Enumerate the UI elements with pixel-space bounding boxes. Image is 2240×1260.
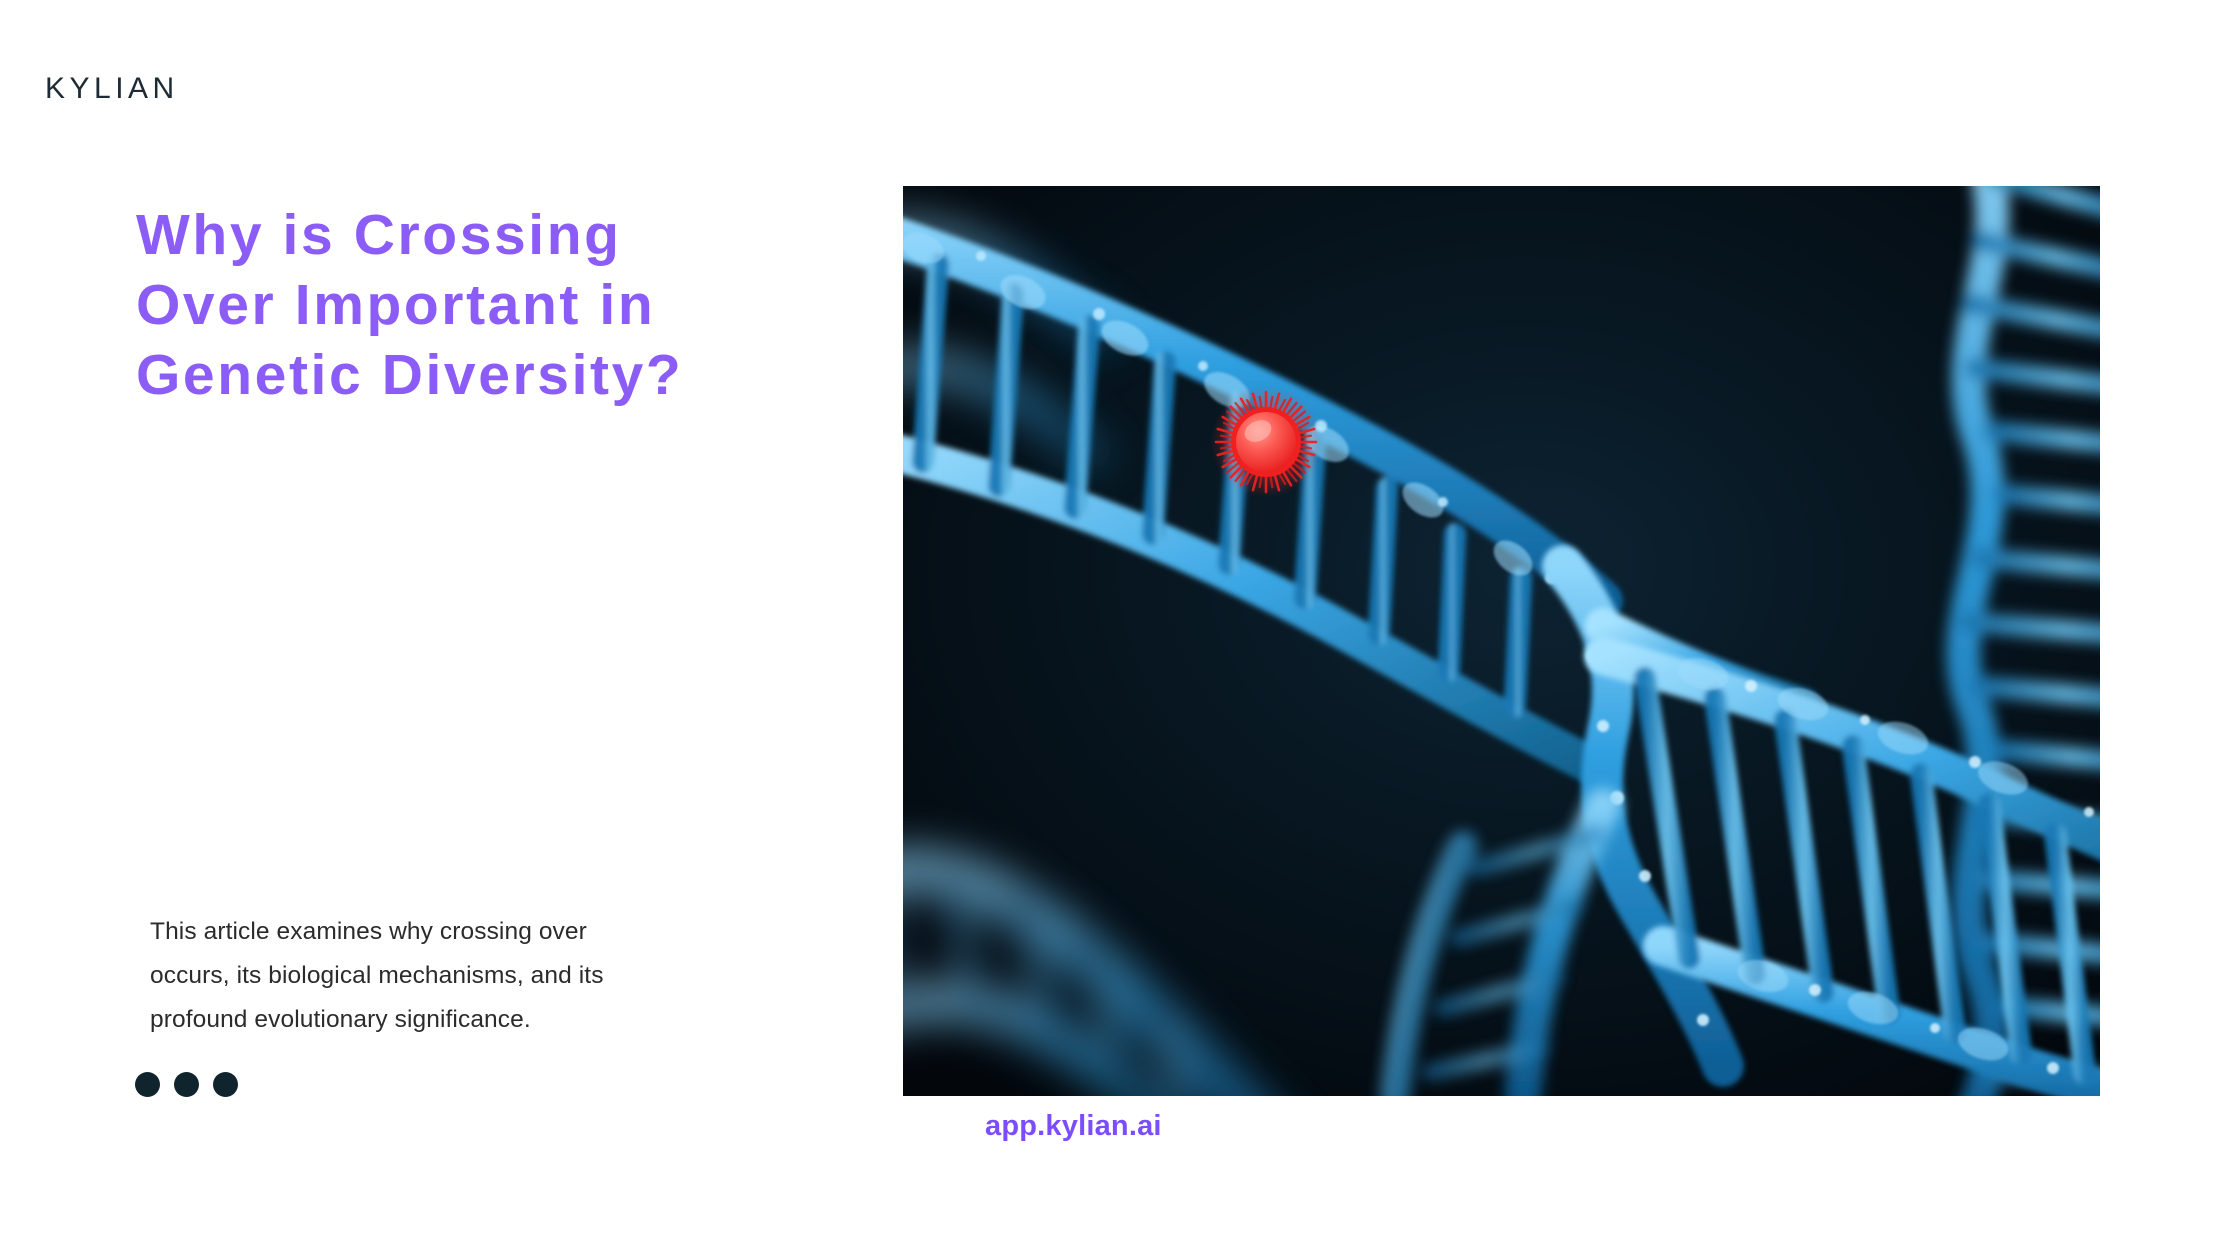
- left-content-column: Why is Crossing Over Important in Geneti…: [0, 0, 900, 1260]
- pagination-dots[interactable]: [135, 1072, 238, 1097]
- lead-line-1: This article examines why crossing over: [150, 910, 770, 954]
- hero-image-dna-helix: [903, 186, 2100, 1096]
- headline-line-3: Genetic Diversity?: [136, 340, 876, 410]
- crossing-over-marker-icon: [1210, 386, 1322, 498]
- dna-illustration: [903, 186, 2100, 1096]
- lead-line-2: occurs, its biological mechanisms, and i…: [150, 954, 770, 998]
- lead-line-3: profound evolutionary significance.: [150, 998, 770, 1042]
- headline-line-1: Why is Crossing: [136, 200, 876, 270]
- page-title: Why is Crossing Over Important in Geneti…: [136, 200, 876, 410]
- pagination-dot-3[interactable]: [213, 1072, 238, 1097]
- lead-paragraph: This article examines why crossing over …: [150, 910, 770, 1042]
- site-url-link[interactable]: app.kylian.ai: [985, 1112, 1162, 1141]
- headline-line-2: Over Important in: [136, 270, 876, 340]
- pagination-dot-1[interactable]: [135, 1072, 160, 1097]
- pagination-dot-2[interactable]: [174, 1072, 199, 1097]
